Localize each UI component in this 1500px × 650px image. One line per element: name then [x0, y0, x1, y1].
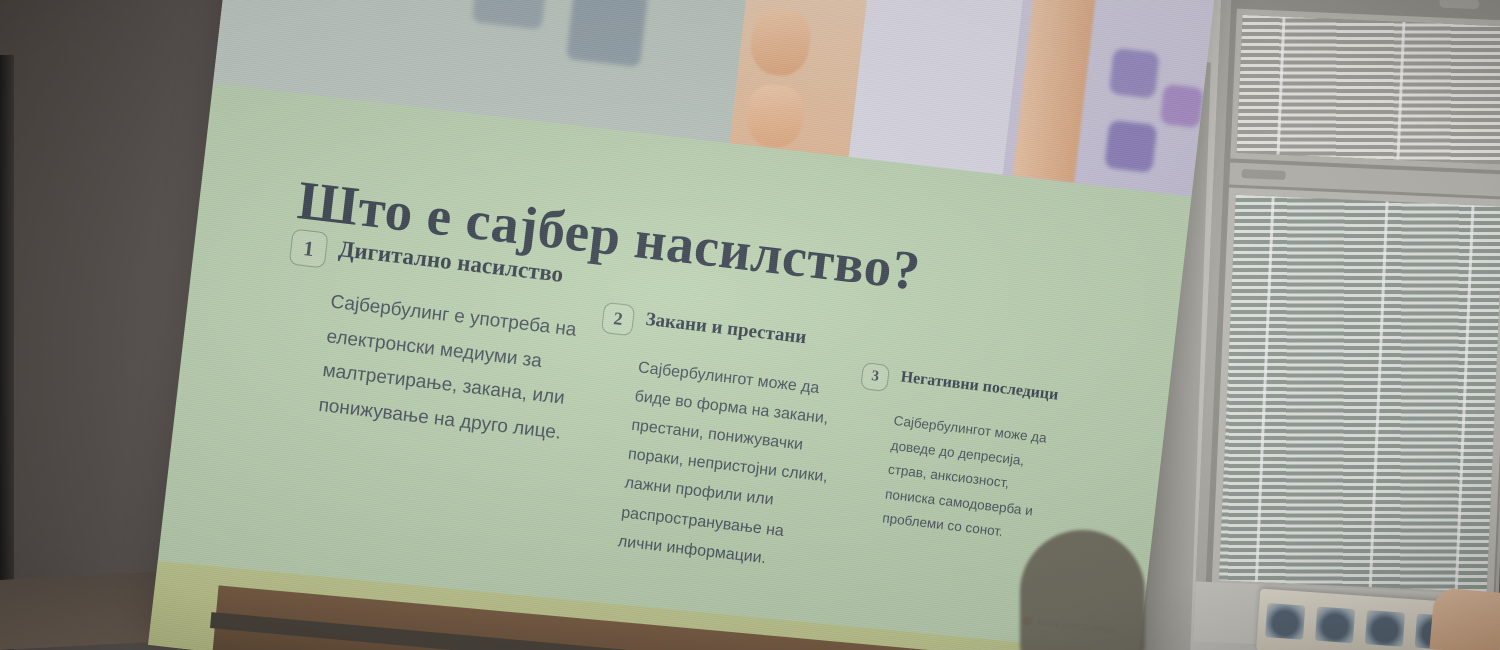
window-handle[interactable]	[1241, 169, 1285, 180]
slide-column-2: 2 Закани и престани Сајбербулингот може …	[574, 301, 853, 596]
left-wall-edge	[0, 55, 14, 650]
column-2-body: Сајбербулингот може да биде во форма на …	[616, 353, 847, 579]
slide-column-1: 1 Дигитално насилство Сајбербулинг е упо…	[269, 227, 587, 471]
number-badge-3: 3	[860, 362, 890, 392]
column-2-header: 2 Закани и престани	[601, 301, 853, 362]
photo-hand-right	[1003, 0, 1219, 197]
person-head-silhouette	[1020, 530, 1145, 650]
column-2-heading: Закани и престани	[644, 306, 807, 349]
column-3-body: Сајбербулингот може да доведе до депреси…	[881, 409, 1067, 551]
number-badge-2: 2	[601, 302, 635, 336]
slide-photo-band	[213, 0, 1218, 197]
number-badge-1: 1	[289, 229, 329, 269]
column-1-body: Сајбербулинг е употреба на електронски м…	[317, 286, 581, 452]
slide-column-3: 3 Негативни последици Сајбербулингот мож…	[843, 361, 1072, 564]
window	[1194, 0, 1500, 644]
column-3-heading: Негативни последици	[900, 366, 1060, 405]
photo-phone-screen	[849, 0, 1030, 175]
photo-social-icons	[213, 0, 757, 143]
column-3-header: 3 Негативни последици	[860, 361, 1072, 413]
window-transom	[1230, 9, 1500, 171]
window-sash	[1212, 188, 1500, 600]
classroom-photo-scene: Што е сајбер насилство? 1 Дигитално наси…	[0, 0, 1500, 650]
hand-holding-poster	[1429, 587, 1500, 650]
